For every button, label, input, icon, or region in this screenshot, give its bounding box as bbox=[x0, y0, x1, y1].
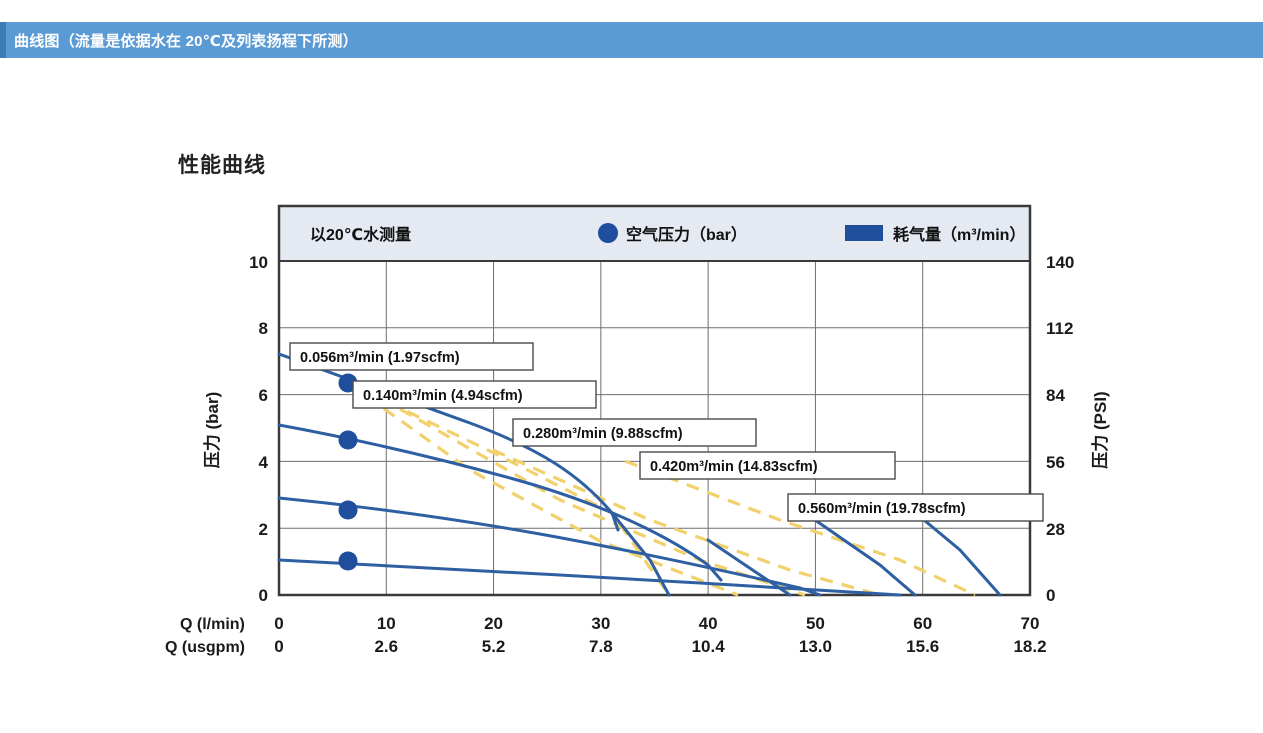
y-left-tick: 0 bbox=[259, 586, 268, 605]
x-axis-primary-title: Q (l/min) bbox=[180, 616, 245, 633]
legend-bar-icon bbox=[845, 225, 883, 241]
y-axis-right: 140 112 84 56 28 0 压力 (PSI) bbox=[1046, 253, 1110, 605]
y-right-tick: 112 bbox=[1046, 319, 1073, 338]
x-primary-tick: 50 bbox=[806, 614, 825, 633]
annotation-label: 0.280m³/min (9.88scfm) bbox=[523, 426, 683, 442]
legend-dot-icon bbox=[598, 223, 618, 243]
legend-label-pressure: 空气压力（bar） bbox=[626, 225, 747, 244]
annotation-label: 0.056m³/min (1.97scfm) bbox=[300, 350, 460, 366]
marker-point bbox=[339, 501, 358, 520]
y-right-tick: 140 bbox=[1046, 253, 1074, 272]
y-axis-left: 10 8 6 4 2 0 压力 (bar) bbox=[202, 253, 269, 605]
y-axis-right-title: 压力 (PSI) bbox=[1090, 391, 1110, 468]
y-left-tick: 10 bbox=[249, 253, 268, 272]
annotation-label: 0.420m³/min (14.83scfm) bbox=[650, 459, 818, 475]
x-primary-tick: 20 bbox=[484, 614, 503, 633]
y-left-tick: 2 bbox=[259, 520, 268, 539]
x-primary-tick: 70 bbox=[1021, 614, 1040, 633]
marker-point bbox=[339, 552, 358, 571]
y-right-tick: 0 bbox=[1046, 586, 1055, 605]
annotation-callout: 0.420m³/min (14.83scfm) bbox=[640, 452, 895, 479]
y-left-tick: 6 bbox=[259, 386, 268, 405]
x-primary-tick: 60 bbox=[913, 614, 932, 633]
x-axis-primary: Q (l/min) 0 10 20 30 40 50 60 70 bbox=[180, 614, 1039, 633]
x-primary-tick: 40 bbox=[699, 614, 718, 633]
annotation-label: 0.560m³/min (19.78scfm) bbox=[798, 501, 966, 517]
annotation-callout: 0.280m³/min (9.88scfm) bbox=[513, 419, 756, 446]
x-secondary-tick: 18.2 bbox=[1013, 637, 1046, 656]
x-secondary-tick: 7.8 bbox=[589, 637, 613, 656]
x-axis-secondary-title: Q (usgpm) bbox=[165, 639, 245, 656]
y-left-tick: 4 bbox=[259, 453, 269, 472]
annotation-label: 0.140m³/min (4.94scfm) bbox=[363, 388, 523, 404]
legend-label-consumption: 耗气量（m³/min） bbox=[893, 225, 1025, 244]
x-secondary-tick: 15.6 bbox=[906, 637, 939, 656]
y-right-tick: 56 bbox=[1046, 453, 1065, 472]
x-primary-tick: 0 bbox=[274, 614, 283, 633]
x-secondary-tick: 0 bbox=[274, 637, 283, 656]
x-secondary-tick: 10.4 bbox=[692, 637, 726, 656]
annotation-callout: 0.560m³/min (19.78scfm) bbox=[788, 494, 1043, 521]
x-primary-tick: 30 bbox=[591, 614, 610, 633]
y-right-tick: 28 bbox=[1046, 520, 1065, 539]
marker-point bbox=[339, 431, 358, 450]
y-right-tick: 84 bbox=[1046, 386, 1065, 405]
performance-curve-chart: 以20℃水测量 空气压力（bar） 耗气量（m³/min） 10 8 6 4 2… bbox=[0, 0, 1263, 733]
x-axis-secondary: Q (usgpm) 0 2.6 5.2 7.8 10.4 13.0 15.6 1… bbox=[165, 637, 1047, 656]
annotation-callout: 0.140m³/min (4.94scfm) bbox=[353, 381, 596, 408]
legend-note: 以20℃水测量 bbox=[310, 225, 411, 244]
y-left-tick: 8 bbox=[259, 319, 268, 338]
x-primary-tick: 10 bbox=[377, 614, 396, 633]
annotation-callout: 0.056m³/min (1.97scfm) bbox=[290, 343, 533, 370]
x-secondary-tick: 13.0 bbox=[799, 637, 832, 656]
x-secondary-tick: 2.6 bbox=[374, 637, 398, 656]
x-secondary-tick: 5.2 bbox=[482, 637, 506, 656]
y-axis-left-title: 压力 (bar) bbox=[202, 392, 222, 469]
